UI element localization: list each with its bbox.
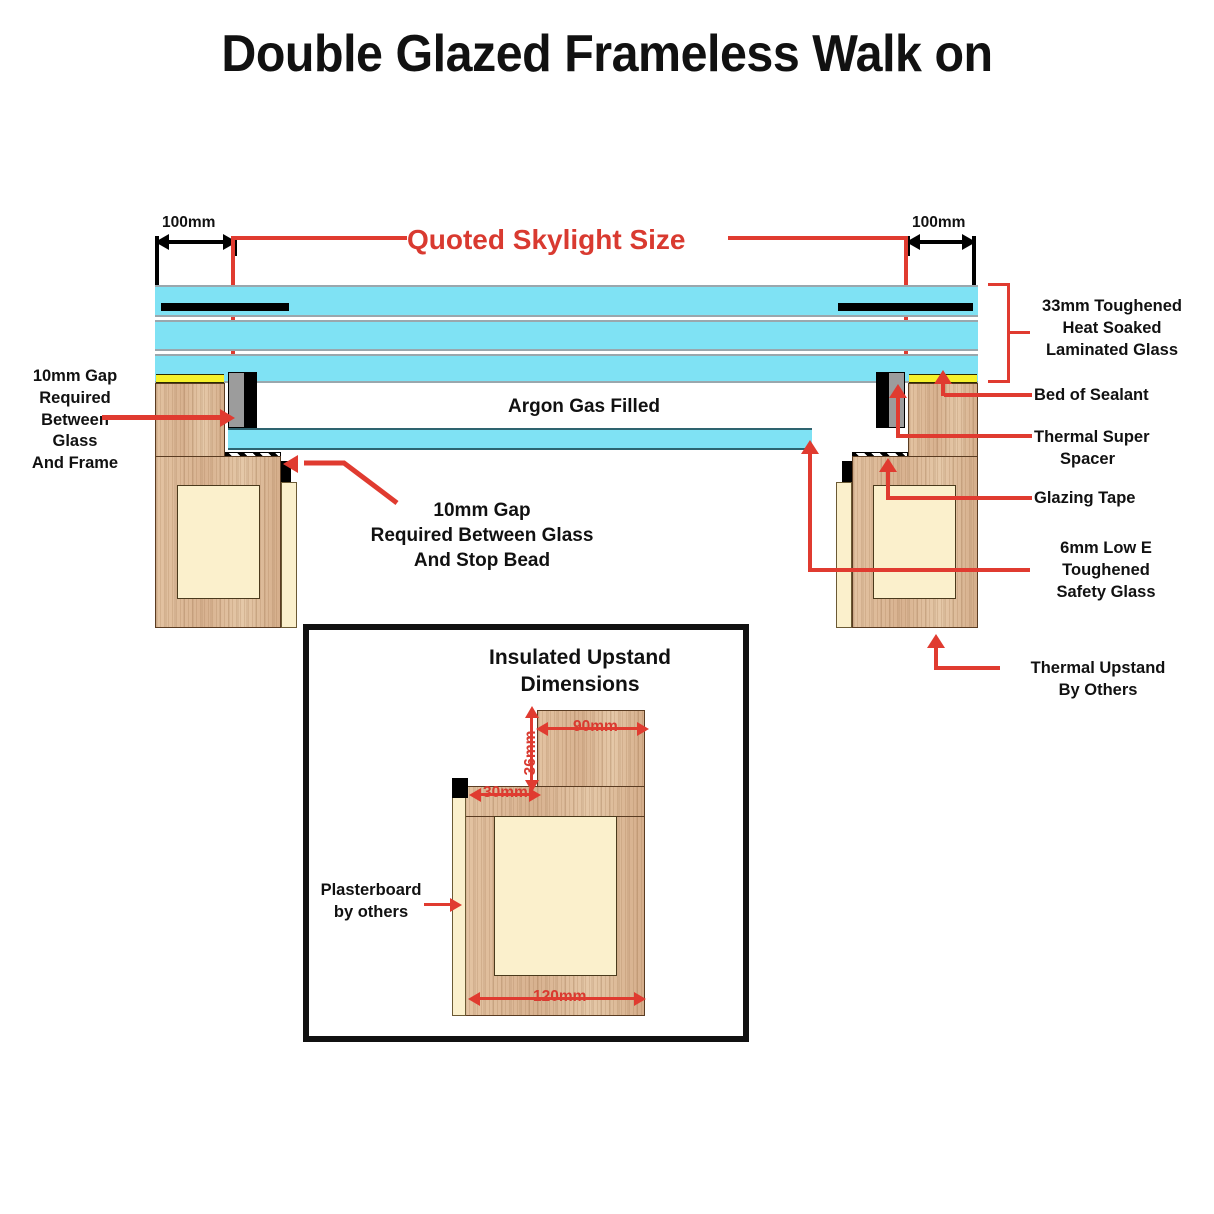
frame-gap-label: 10mm Gap Required Between Glass And Fram…	[4, 366, 146, 475]
inset-30mm-arrow-left	[469, 788, 481, 802]
inset-120mm-arrow-left	[468, 992, 480, 1006]
thermal-super-spacer-label: Thermal Super Spacer	[1034, 427, 1204, 471]
thermal-spacer-leader	[896, 434, 1032, 438]
right-margin-arrow-left	[906, 234, 920, 250]
inset-120mm-line	[478, 997, 640, 1000]
right-margin-dimension-label: 100mm	[912, 214, 965, 232]
inset-title: Insulated Upstand Dimensions	[430, 644, 730, 699]
inset-120mm-arrow-right	[634, 992, 646, 1006]
quoted-size-leader-left	[235, 236, 407, 240]
stop-bead-gap-arrowhead	[283, 455, 298, 473]
left-margin-arrow-left	[155, 234, 169, 250]
spacer-black-strip-left	[245, 372, 257, 428]
frame-gap-leader	[102, 415, 224, 420]
argon-gas-label: Argon Gas Filled	[404, 394, 764, 419]
glazing-tape-label: Glazing Tape	[1034, 488, 1204, 510]
inset-title-line-2: Dimensions	[430, 671, 730, 698]
thermal-upstand-leader	[934, 666, 1000, 670]
inset-plasterboard-line-1: Plasterboard	[310, 880, 432, 902]
low-e-glass-line-3: Safety Glass	[1026, 582, 1186, 604]
thermal-upstand-line-1: Thermal Upstand	[1000, 658, 1196, 680]
low-e-glass-line-1: 6mm Low E	[1026, 538, 1186, 560]
plasterboard-right	[836, 482, 852, 628]
inset-30mm-arrow-right	[529, 788, 541, 802]
laminated-glass-pane-2	[155, 320, 978, 351]
stop-bead-gap-leader	[282, 455, 402, 505]
frame-gap-line-5: And Frame	[4, 453, 146, 475]
upstand-wood-upper-left	[155, 383, 225, 457]
bed-of-sealant-arrowhead	[934, 370, 952, 384]
inset-36mm-arrow-up	[525, 706, 539, 718]
laminated-glass-line-3: Laminated Glass	[1026, 340, 1198, 362]
laminated-glass-pane-3	[155, 354, 978, 383]
inset-insulation	[494, 816, 617, 976]
bed-of-sealant-left	[156, 374, 224, 383]
inset-30mm-line	[478, 793, 536, 796]
upstand-insulation-right	[873, 485, 956, 599]
thermal-spacer-line-2: Spacer	[1034, 449, 1204, 471]
inset-plasterboard-line-2: by others	[310, 902, 432, 924]
thermal-spacer-leader-riser	[896, 392, 900, 436]
glazing-tape-arrowhead	[879, 458, 897, 472]
low-e-glass-label: 6mm Low E Toughened Safety Glass	[1026, 538, 1186, 603]
inset-plasterboard-arrowhead	[450, 898, 462, 912]
inset-90mm-arrow-right	[637, 722, 649, 736]
thermal-upstand-line-2: By Others	[1000, 680, 1196, 702]
page-title: Double Glazed Frameless Walk on	[42, 24, 1171, 84]
left-margin-dimension-label: 100mm	[162, 214, 215, 232]
laminated-glass-pane-1	[155, 285, 978, 317]
glass-thickness-bracket	[988, 283, 1010, 383]
low-e-glass-leader-riser	[808, 448, 812, 570]
frame-gap-line-4: Glass	[4, 431, 146, 453]
inset-36mm-line	[530, 714, 533, 786]
glazing-tape-leader	[886, 496, 1032, 500]
low-e-glass-pane	[228, 428, 812, 450]
inset-90mm-line	[546, 727, 641, 730]
thermal-spacer-arrowhead	[889, 384, 907, 398]
inset-title-line-1: Insulated Upstand	[430, 644, 730, 671]
laminated-glass-line-2: Heat Soaked	[1026, 318, 1198, 340]
stop-bead-gap-line-2: Required Between Glass	[327, 523, 637, 548]
glass-interlayer-bar-left	[161, 303, 289, 311]
frame-gap-line-2: Required	[4, 388, 146, 410]
thermal-upstand-arrowhead	[927, 634, 945, 648]
frame-gap-arrowhead	[220, 409, 235, 427]
stop-bead-gap-label: 10mm Gap Required Between Glass And Stop…	[327, 498, 637, 573]
stop-bead-gap-line-3: And Stop Bead	[327, 548, 637, 573]
inset-stop-bead	[452, 778, 468, 798]
inset-plasterboard-label: Plasterboard by others	[310, 880, 432, 924]
quoted-skylight-size-label: Quoted Skylight Size	[407, 224, 685, 256]
low-e-glass-leader	[808, 568, 1030, 572]
upstand-insulation-left	[177, 485, 260, 599]
spacer-black-strip-right	[876, 372, 888, 428]
low-e-glass-arrowhead	[801, 440, 819, 454]
low-e-glass-line-2: Toughened	[1026, 560, 1186, 582]
laminated-glass-line-1: 33mm Toughened	[1026, 296, 1198, 318]
diagram-canvas: Double Glazed Frameless Walk on 100mm 10…	[0, 0, 1214, 1214]
frame-gap-line-3: Between	[4, 410, 146, 432]
thermal-spacer-line-1: Thermal Super	[1034, 427, 1204, 449]
glass-interlayer-bar-right	[838, 303, 973, 311]
laminated-glass-label: 33mm Toughened Heat Soaked Laminated Gla…	[1026, 296, 1198, 361]
quoted-size-leader-right	[728, 236, 908, 240]
frame-gap-line-1: 10mm Gap	[4, 366, 146, 388]
bed-of-sealant-label: Bed of Sealant	[1034, 385, 1204, 407]
right-margin-arrow-right	[962, 234, 976, 250]
bed-of-sealant-leader	[944, 393, 1032, 397]
thermal-upstand-label: Thermal Upstand By Others	[1000, 658, 1196, 702]
